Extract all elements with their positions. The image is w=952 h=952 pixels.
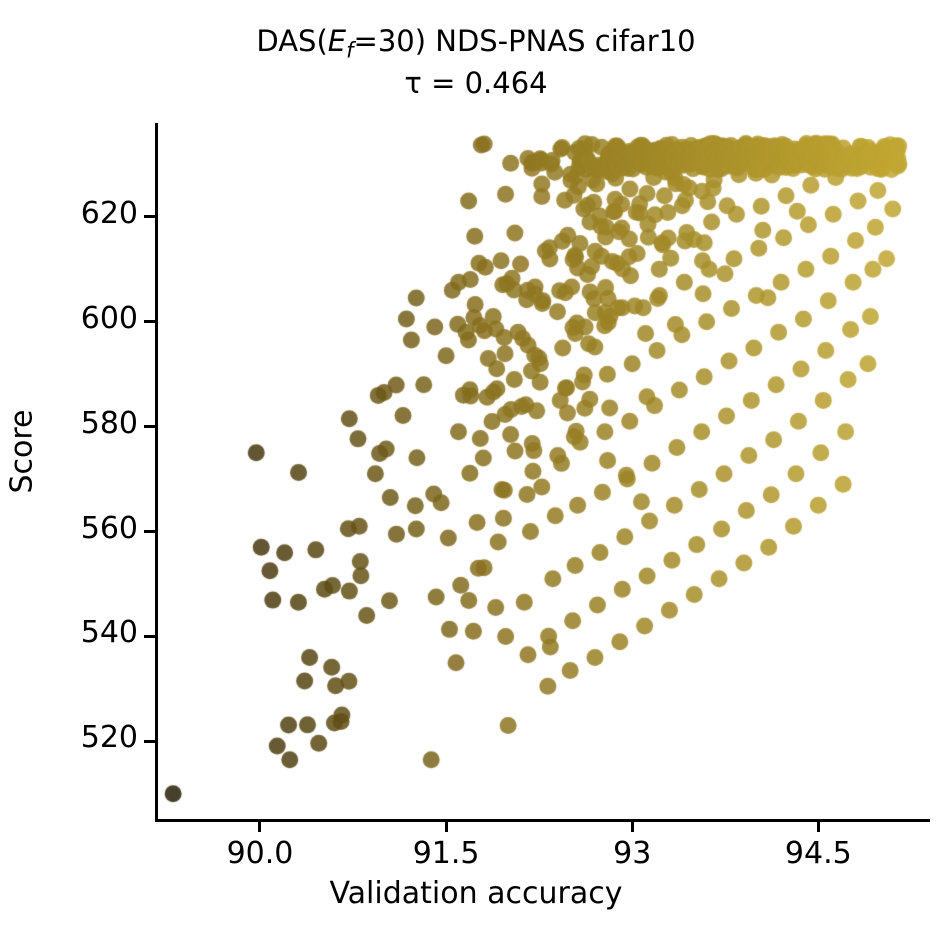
- title-italic-var: E: [328, 24, 346, 58]
- y-tick-mark: [144, 215, 155, 218]
- y-axis-label: Score: [5, 322, 40, 582]
- y-tick-label: 560: [81, 511, 138, 546]
- x-tick-label: 90.0: [227, 836, 294, 871]
- title-block: DAS(Ef=30) NDS-PNAS cifar10 τ = 0.464: [0, 24, 952, 102]
- y-tick-mark: [144, 530, 155, 533]
- title-suffix: =30) NDS-PNAS cifar10: [354, 24, 696, 58]
- scatter-plot-figure: DAS(Ef=30) NDS-PNAS cifar10 τ = 0.464 52…: [0, 0, 952, 952]
- scatter-points-canvas: [157, 125, 930, 820]
- y-tick-label: 600: [81, 301, 138, 336]
- chart-subtitle-tau: τ = 0.464: [0, 66, 952, 101]
- y-tick-mark: [144, 635, 155, 638]
- x-tick-mark: [258, 821, 261, 832]
- title-subscript: f: [346, 39, 353, 63]
- y-tick-mark: [144, 320, 155, 323]
- x-axis-label: Validation accuracy: [0, 876, 952, 911]
- x-tick-mark: [817, 821, 820, 832]
- x-tick-label: 94.5: [785, 836, 852, 871]
- title-prefix: DAS(: [256, 24, 327, 58]
- y-tick-label: 540: [81, 615, 138, 650]
- x-tick-mark: [445, 821, 448, 832]
- x-tick-label: 91.5: [413, 836, 480, 871]
- y-axis-spine: [155, 123, 158, 822]
- x-tick-mark: [631, 821, 634, 832]
- y-tick-mark: [144, 740, 155, 743]
- y-tick-label: 520: [81, 720, 138, 755]
- y-tick-mark: [144, 425, 155, 428]
- y-tick-label: 620: [81, 196, 138, 231]
- x-axis-spine: [155, 819, 930, 822]
- page-title: DAS(Ef=30) NDS-PNAS cifar10: [0, 24, 952, 64]
- plot-area: [157, 125, 930, 820]
- x-tick-label: 93: [613, 836, 651, 871]
- y-tick-label: 580: [81, 406, 138, 441]
